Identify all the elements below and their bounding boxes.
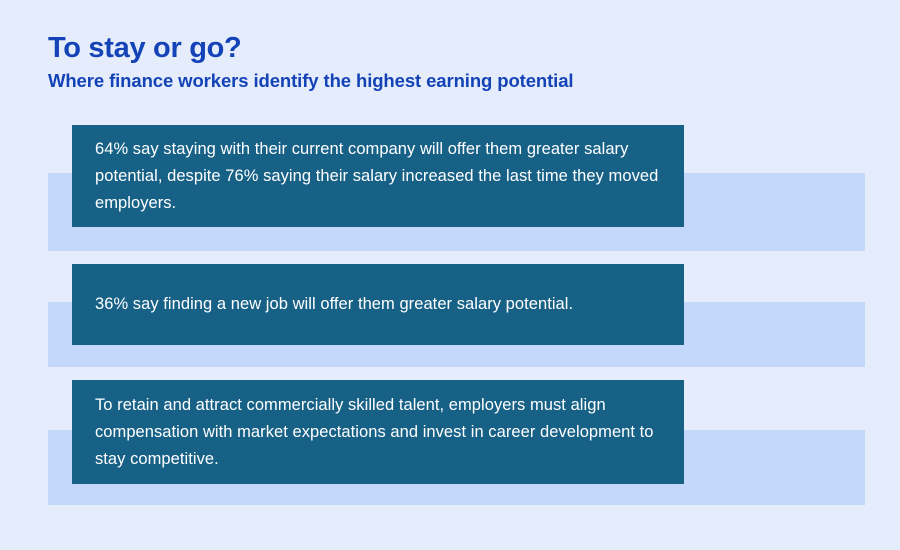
stat-callout-box-3: To retain and attract commercially skill…: [72, 380, 684, 484]
stat-text-1: 64% say staying with their current compa…: [72, 136, 684, 217]
stat-callout-box-1: 64% say staying with their current compa…: [72, 125, 684, 227]
stat-text-3: To retain and attract commercially skill…: [72, 392, 684, 473]
page-subtitle: Where finance workers identify the highe…: [48, 69, 848, 93]
infographic-root: To stay or go? Where finance workers ide…: [0, 0, 900, 550]
heading-block: To stay or go? Where finance workers ide…: [48, 30, 848, 93]
page-title: To stay or go?: [48, 30, 848, 66]
stat-text-2: 36% say finding a new job will offer the…: [72, 291, 595, 318]
stat-callout-box-2: 36% say finding a new job will offer the…: [72, 264, 684, 345]
